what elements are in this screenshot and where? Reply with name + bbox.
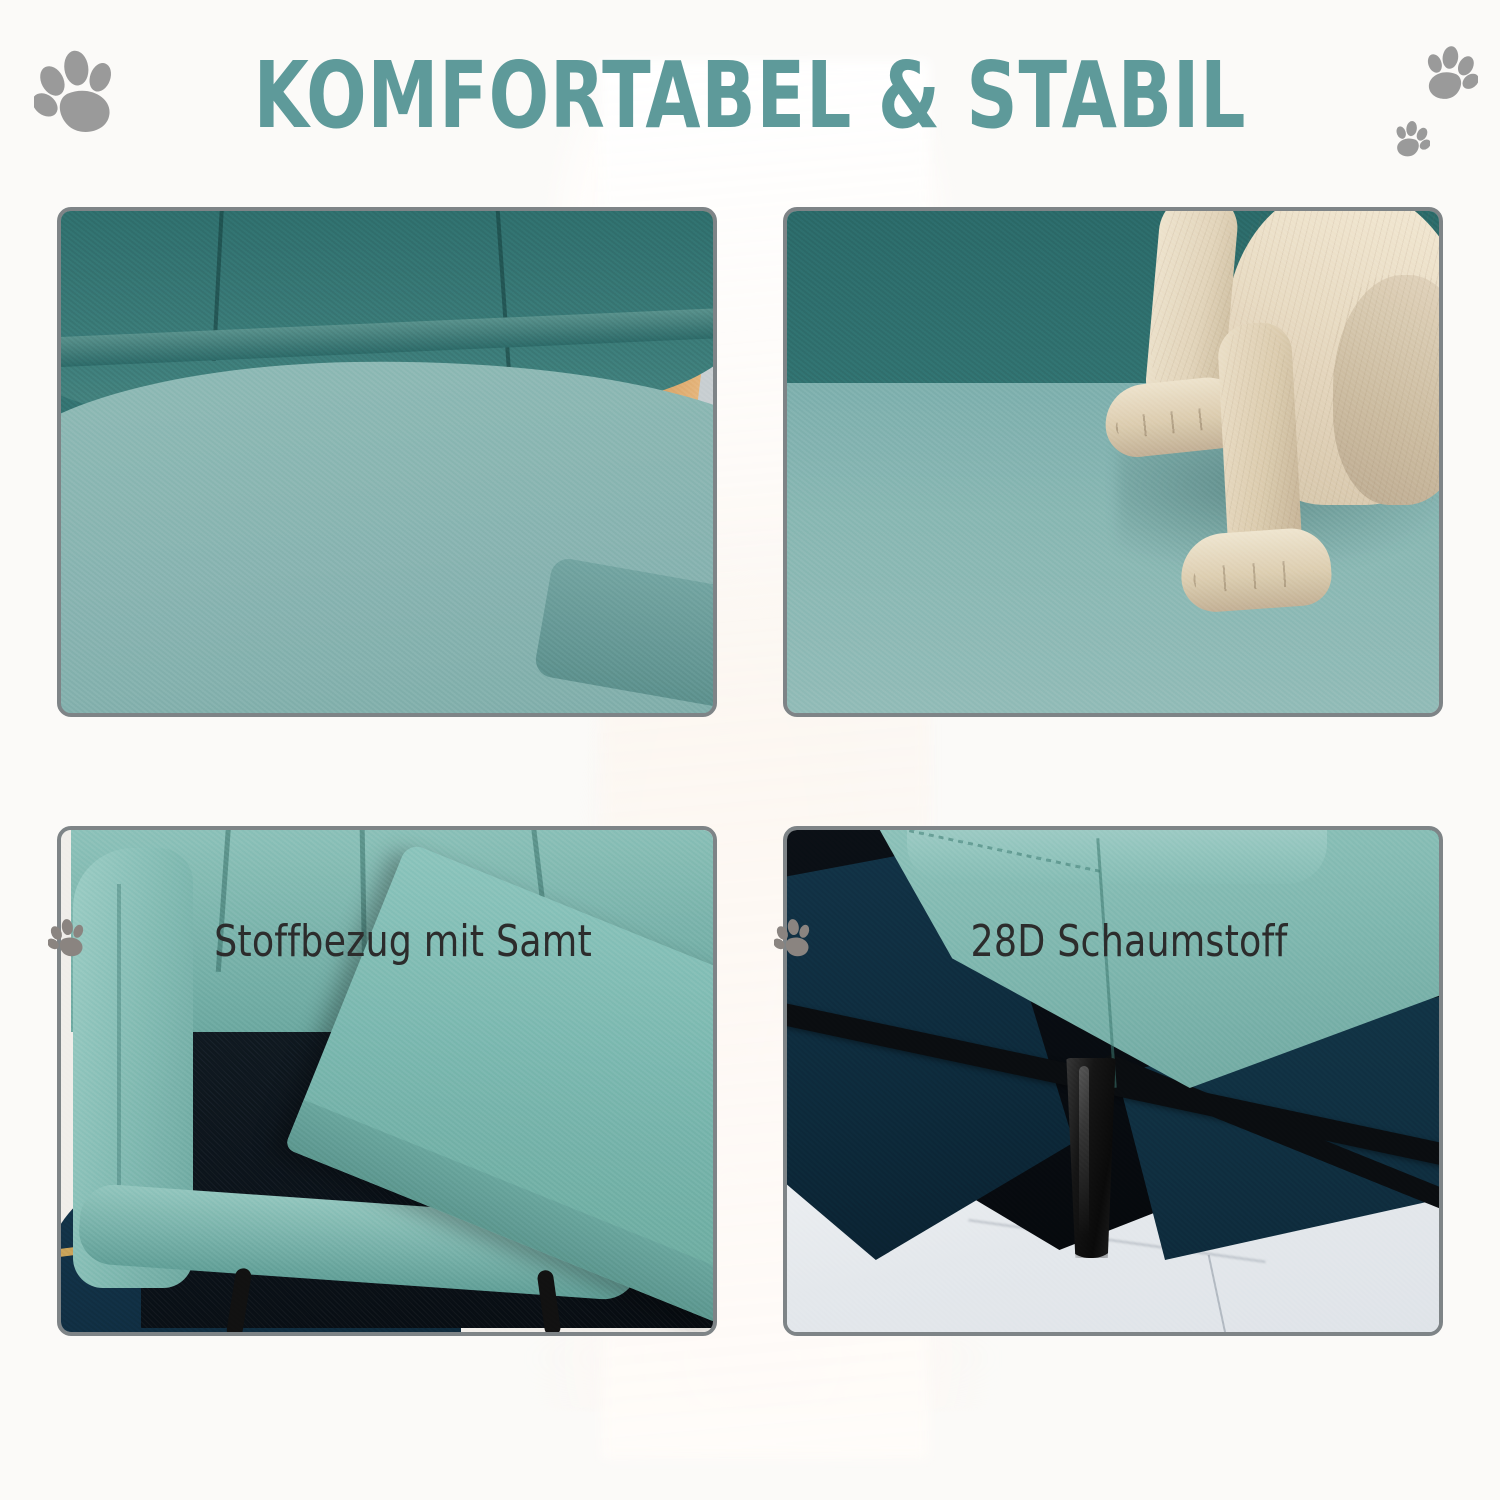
velvet-texture — [787, 830, 1439, 1332]
caption-label: Stoffbezug mit Samt — [115, 912, 691, 972]
feature-photo-foam — [783, 207, 1443, 717]
feature-photo-fabric — [57, 207, 717, 717]
paw-print-icon — [1418, 42, 1478, 104]
feature-photo-base — [783, 826, 1443, 1336]
infographic-page: KOMFORTABEL & STABIL — [0, 0, 1500, 1500]
paw-icon — [774, 916, 816, 960]
header: KOMFORTABEL & STABIL — [0, 0, 1500, 175]
caption-label: 28D Schaumstoff — [841, 912, 1417, 972]
feature-caption-foam: 28D Schaumstoff — [774, 912, 1442, 972]
page-title: KOMFORTABEL & STABIL — [105, 47, 1395, 145]
velvet-texture — [61, 211, 713, 713]
feature-grid: Stoffbezug mit Samt 28D Schaumstoff — [0, 175, 1500, 1500]
paw-print-icon — [1390, 118, 1430, 160]
velvet-texture — [787, 211, 1439, 713]
velvet-texture — [61, 830, 713, 1332]
feature-photo-cushion — [57, 826, 717, 1336]
paw-icon — [48, 916, 90, 960]
feature-caption-fabric: Stoffbezug mit Samt — [48, 912, 716, 972]
